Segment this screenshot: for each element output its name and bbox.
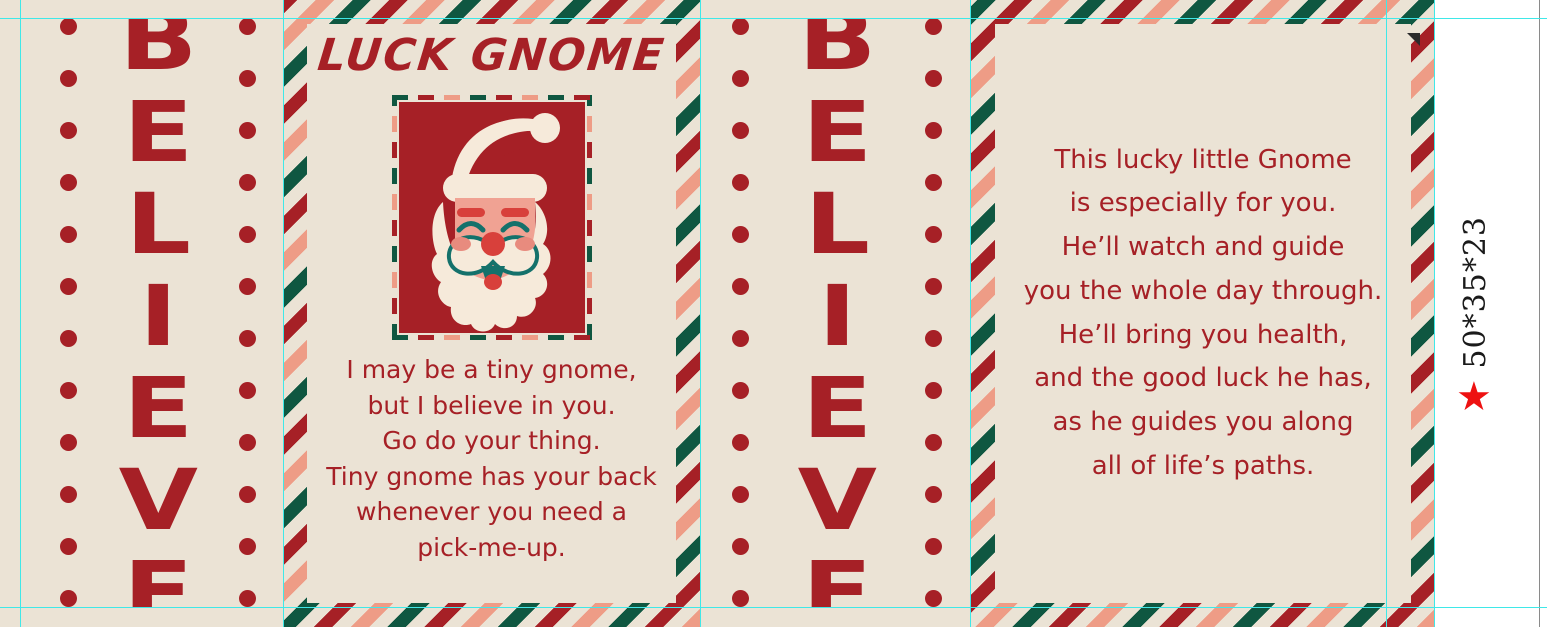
believe-wordmark-right: BELIEVE: [793, 18, 881, 607]
panel-believe-left: BELIEVE: [20, 18, 282, 607]
guide-vertical-2[interactable]: [283, 0, 284, 627]
star-icon: ★: [1456, 377, 1492, 417]
dot: [925, 226, 942, 243]
dot: [60, 226, 77, 243]
dot: [239, 174, 256, 191]
dot: [925, 18, 942, 35]
dot: [60, 434, 77, 451]
card-back-verse: This lucky little Gnome is especially fo…: [1024, 139, 1383, 488]
guide-vertical-1[interactable]: [20, 0, 21, 627]
dot: [239, 434, 256, 451]
dot: [239, 122, 256, 139]
dot: [239, 330, 256, 347]
dot: [732, 122, 749, 139]
dot: [925, 538, 942, 555]
dot: [732, 330, 749, 347]
guide-horizontal-top[interactable]: [0, 18, 1547, 19]
dot: [925, 382, 942, 399]
dot-column-left: [732, 18, 749, 607]
dot: [60, 538, 77, 555]
dimension-label: 50*35*23: [1458, 216, 1493, 369]
santa-face-icon: [399, 102, 585, 333]
dot: [239, 278, 256, 295]
dot-column-right: [925, 18, 942, 607]
dot-column-left: [60, 18, 77, 607]
dot: [732, 382, 749, 399]
panel-card-front: LUCK GNOME: [307, 24, 676, 603]
page-edge-divider: [1539, 0, 1540, 627]
dot: [732, 278, 749, 295]
dot: [925, 330, 942, 347]
dot: [60, 18, 77, 35]
dot: [925, 278, 942, 295]
dot: [925, 70, 942, 87]
believe-wordmark-left: BELIEVE: [114, 18, 202, 607]
guide-vertical-5[interactable]: [1386, 0, 1387, 627]
dot: [60, 486, 77, 503]
dot: [925, 122, 942, 139]
guide-vertical-3[interactable]: [700, 0, 701, 627]
dot: [239, 590, 256, 607]
dot: [732, 538, 749, 555]
dot: [732, 18, 749, 35]
panel-card-back: This lucky little Gnome is especially fo…: [995, 24, 1411, 603]
panel-believe-right: BELIEVE: [702, 18, 970, 607]
guide-vertical-6[interactable]: [1434, 0, 1435, 627]
dot: [239, 382, 256, 399]
dot: [60, 590, 77, 607]
dot: [60, 70, 77, 87]
dot: [60, 122, 77, 139]
dot: [925, 486, 942, 503]
dot: [60, 278, 77, 295]
dot: [925, 590, 942, 607]
canvas-stage: BELIEVE LUCK GNOME: [0, 0, 1547, 627]
dot: [239, 486, 256, 503]
dot: [732, 486, 749, 503]
card-title: LUCK GNOME: [315, 30, 668, 81]
dot: [60, 174, 77, 191]
dot: [239, 18, 256, 35]
illustration-backdrop: [399, 102, 585, 333]
dot: [239, 538, 256, 555]
dot: [925, 174, 942, 191]
dot: [732, 70, 749, 87]
card-front-verse: I may be a tiny gnome, but I believe in …: [326, 352, 656, 565]
dot: [60, 330, 77, 347]
dot: [732, 434, 749, 451]
dot-column-right: [239, 18, 256, 607]
dot: [732, 590, 749, 607]
dot: [732, 174, 749, 191]
dot: [732, 226, 749, 243]
dot: [60, 382, 77, 399]
dot: [925, 434, 942, 451]
corner-marker-icon: [1407, 33, 1420, 46]
dot: [239, 226, 256, 243]
guide-horizontal-bottom[interactable]: [0, 607, 1547, 608]
dot: [239, 70, 256, 87]
santa-illustration-frame: [392, 95, 592, 340]
guide-vertical-4[interactable]: [970, 0, 971, 627]
